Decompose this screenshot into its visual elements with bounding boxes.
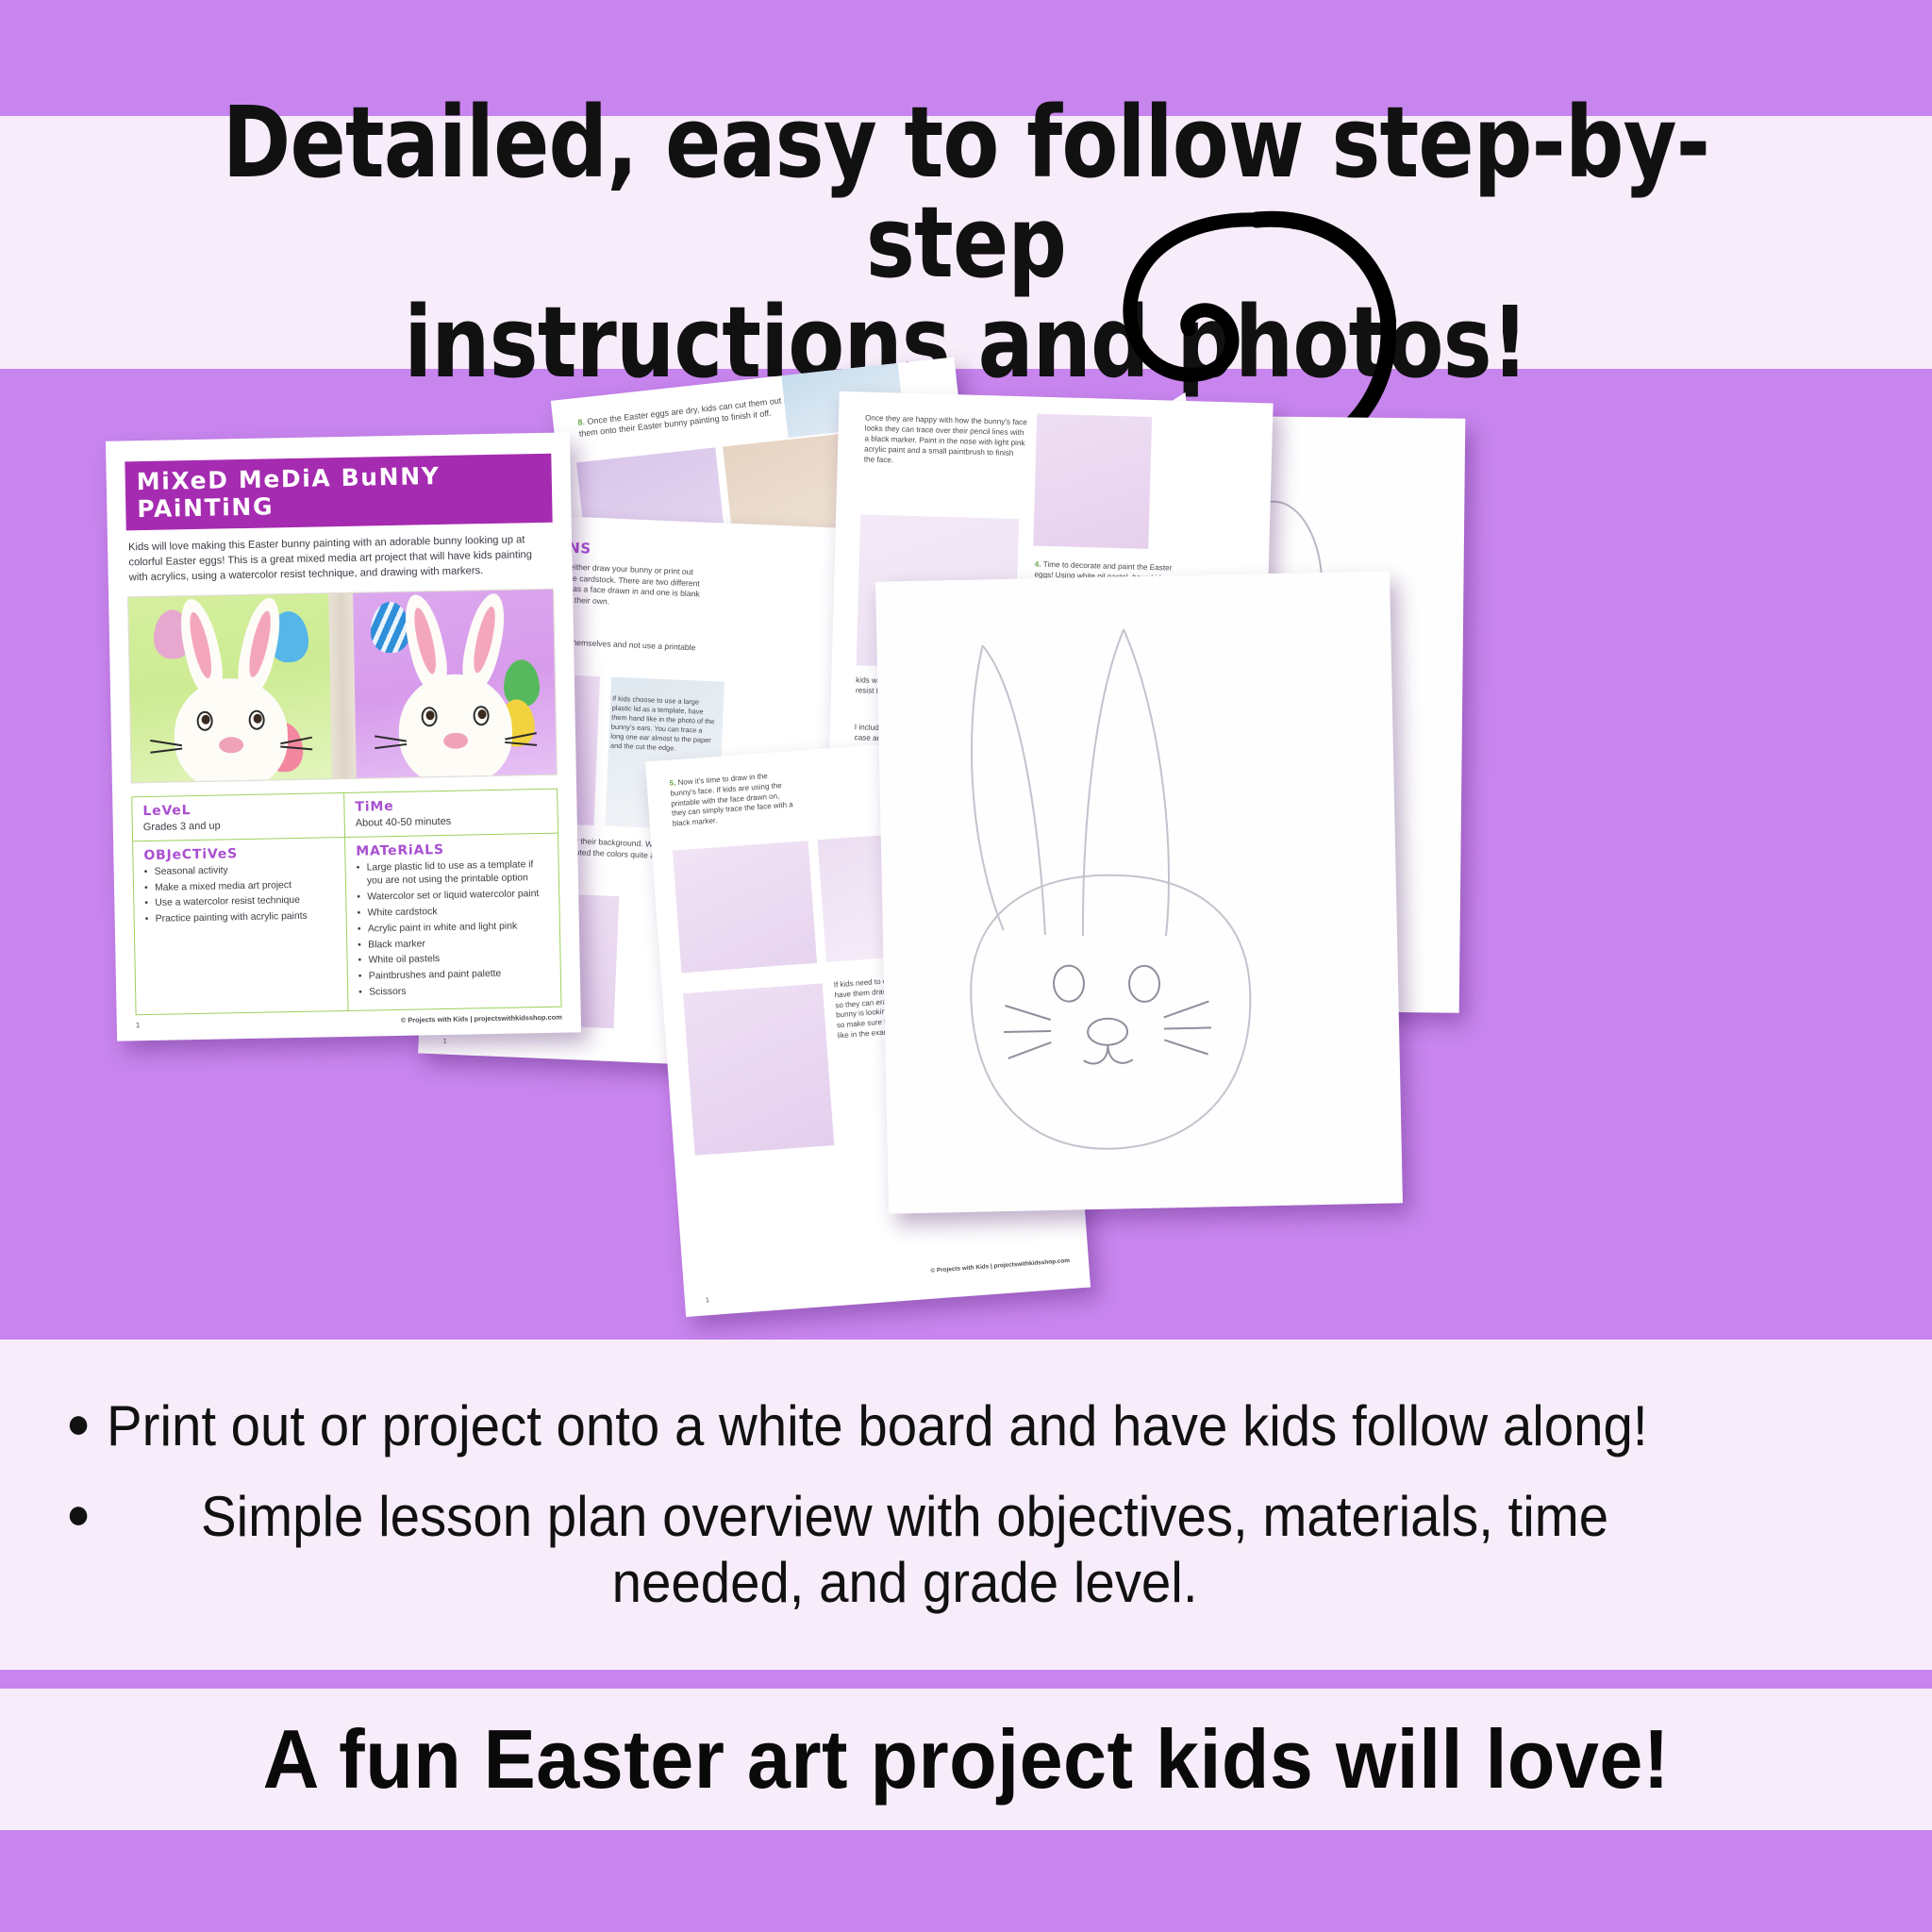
materials-heading: MATeRiALS	[356, 841, 549, 859]
top-headline-line1: Detailed, easy to follow step-by-step	[202, 92, 1730, 292]
step5-page-number: 1	[706, 1297, 709, 1304]
step8-text: Once the Easter eggs are dry, kids can c…	[578, 392, 816, 439]
lesson-plan-page[interactable]: MiXeD MeDiA BuNNY PAiNTiNG Kids will lov…	[106, 432, 581, 1041]
bottom-banner: A fun Easter art project kids will love!	[0, 1689, 1932, 1830]
bunny-nose	[443, 732, 468, 748]
cell-materials: MATeRiALS Large plastic lid to use as a …	[345, 833, 560, 1010]
list-item: ● Print out or project onto a white boar…	[66, 1393, 1779, 1459]
level-heading: LeVeL	[142, 800, 335, 819]
list-item: Practice painting with acrylic paints	[145, 910, 338, 927]
instructions-lid-text: If kids choose to use a large plastic li…	[610, 694, 716, 755]
bullet-icon: ●	[66, 1393, 91, 1452]
feature-text: Print out or project onto a white board …	[107, 1393, 1647, 1459]
document-collage: 8. Once the Easter eggs are dry, kids ca…	[0, 369, 1932, 1340]
list-item: Acrylic paint in white and light pink	[358, 920, 551, 937]
step5-text: Now it's time to draw in the bunny's fac…	[670, 772, 793, 828]
list-item: Make a mixed media art project	[144, 878, 337, 895]
tagline: A fun Easter art project kids will love!	[262, 1711, 1669, 1807]
cell-level: LeVeL Grades 3 and up	[132, 793, 345, 841]
copyright: © Projects with Kids | projectswithkidss…	[401, 1013, 562, 1024]
features-list: ● Print out or project onto a white boar…	[0, 1393, 1932, 1617]
objectives-list: Seasonal activity Make a mixed media art…	[144, 862, 338, 927]
features-banner: ● Print out or project onto a white boar…	[0, 1340, 1932, 1670]
step5-number: 5.	[669, 778, 675, 787]
bunny-eye-left	[196, 710, 212, 730]
bunny-nose	[219, 737, 243, 753]
bunny-outline-with-face-drawing	[875, 571, 1403, 1213]
lesson-plan-intro: Kids will love making this Easter bunny …	[128, 533, 552, 586]
list-item: Watercolor set or liquid watercolor pain…	[357, 888, 550, 905]
bunny-illustration-green	[174, 677, 289, 782]
photo-green-bunny	[128, 593, 332, 782]
list-item: Scissors	[358, 983, 552, 1000]
list-item: Seasonal activity	[144, 862, 337, 879]
step8-number: 8.	[577, 417, 586, 427]
photo-divider	[328, 592, 357, 778]
step5-copyright: © Projects with Kids | projectswithkidss…	[930, 1257, 1070, 1274]
top-banner: Detailed, easy to follow step-by-step in…	[0, 116, 1932, 369]
page-number: 1	[136, 1021, 141, 1029]
photo-purple-bunny	[353, 589, 557, 777]
objectives-heading: OBJeCTiVeS	[143, 844, 336, 863]
bunny-whisker	[375, 735, 407, 741]
bunny-template-page-front[interactable]	[875, 571, 1403, 1213]
level-value: Grades 3 and up	[143, 818, 336, 833]
top-headline: Detailed, easy to follow step-by-step in…	[155, 92, 1777, 392]
time-value: About 40-50 minutes	[356, 814, 549, 829]
lesson-plan-table: LeVeL Grades 3 and up TiMe About 40-50 m…	[131, 788, 561, 1015]
bunny-eye-right	[248, 709, 264, 729]
cell-time: TiMe About 40-50 minutes	[344, 789, 558, 837]
list-item: Paintbrushes and paint palette	[358, 967, 552, 984]
lesson-plan-title: MiXeD MeDiA BuNNY PAiNTiNG	[125, 454, 552, 531]
step5-photo-3	[683, 983, 834, 1155]
bunny-eye-left	[421, 707, 437, 726]
cell-objectives: OBJeCTiVeS Seasonal activity Make a mixe…	[133, 838, 348, 1015]
list-item: Use a watercolor resist technique	[144, 894, 337, 911]
time-heading: TiMe	[355, 796, 548, 815]
bullet-icon: ●	[66, 1484, 91, 1542]
step5-caption: 5. Now it's time to draw in the bunny's …	[669, 770, 795, 829]
bunny-whisker	[375, 743, 407, 749]
materials-list: Large plastic lid to use as a template i…	[357, 858, 553, 1001]
list-item: White cardstock	[357, 904, 550, 921]
bunny-whisker	[150, 740, 182, 746]
bunny-eye-right	[473, 706, 489, 725]
list-item: ● Simple lesson plan overview with objec…	[66, 1484, 1779, 1616]
bunny-illustration-purple	[398, 673, 513, 777]
step5-photo-1	[673, 841, 817, 973]
instructions-page-number: 1	[443, 1039, 447, 1045]
right-intro-text: Once they are happy with how the bunny's…	[864, 412, 1027, 469]
bunny-ear-right	[457, 590, 511, 692]
feature-text: Simple lesson plan overview with objecti…	[107, 1484, 1703, 1616]
right-photo-1	[1033, 414, 1152, 549]
list-item: Large plastic lid to use as a template i…	[357, 858, 551, 890]
lesson-plan-footer: 1 © Projects with Kids | projectswithkid…	[136, 1013, 562, 1030]
step4-number: 4.	[1035, 560, 1041, 569]
bunny-whisker	[150, 747, 182, 753]
list-item: Black marker	[358, 935, 551, 952]
list-item: White oil pastels	[358, 951, 551, 968]
lesson-plan-photo	[127, 588, 558, 783]
egg-striped-blue	[370, 601, 410, 653]
